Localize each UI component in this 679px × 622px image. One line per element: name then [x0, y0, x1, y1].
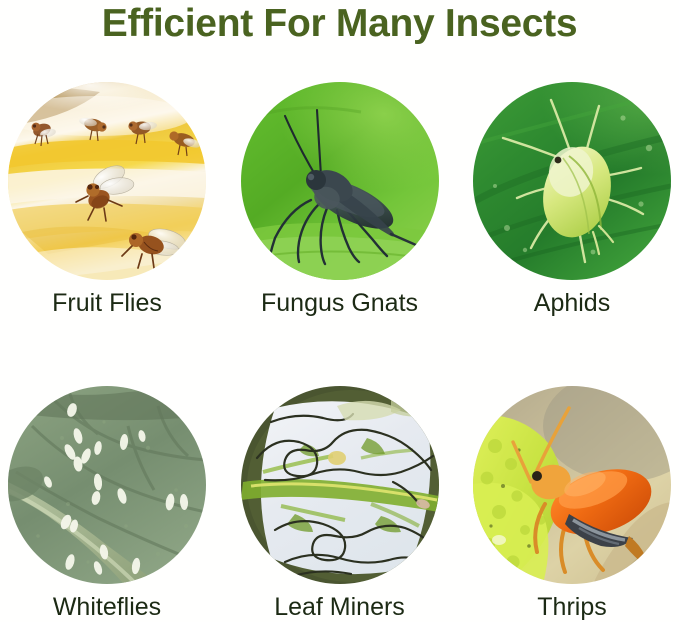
insect-card-fruit-flies: Fruit Flies — [8, 82, 206, 318]
leaf-miners-photo — [241, 386, 439, 584]
insect-label: Fungus Gnats — [261, 288, 418, 318]
insect-card-aphids: Aphids — [473, 82, 671, 318]
insect-label: Whiteflies — [53, 592, 161, 622]
fruit-flies-photo — [8, 82, 206, 280]
insect-card-fungus-gnats: Fungus Gnats — [241, 82, 439, 318]
insect-row-1: Fruit Flies — [0, 82, 679, 318]
whiteflies-photo — [8, 386, 206, 584]
insect-row-2: Whiteflies — [0, 386, 679, 622]
thrips-photo — [473, 386, 671, 584]
insect-card-leaf-miners: Leaf Miners — [241, 386, 439, 622]
insect-label: Leaf Miners — [274, 592, 405, 622]
fungus-gnats-photo — [241, 82, 439, 280]
aphids-photo — [473, 82, 671, 280]
page-title: Efficient For Many Insects — [0, 2, 679, 46]
insect-grid: Fruit Flies — [0, 82, 679, 622]
insect-label: Aphids — [534, 288, 610, 318]
insect-card-whiteflies: Whiteflies — [8, 386, 206, 622]
insect-card-thrips: Thrips — [473, 386, 671, 622]
insect-label: Thrips — [537, 592, 606, 622]
infographic-page: Efficient For Many Insects — [0, 0, 679, 607]
insect-label: Fruit Flies — [52, 288, 162, 318]
